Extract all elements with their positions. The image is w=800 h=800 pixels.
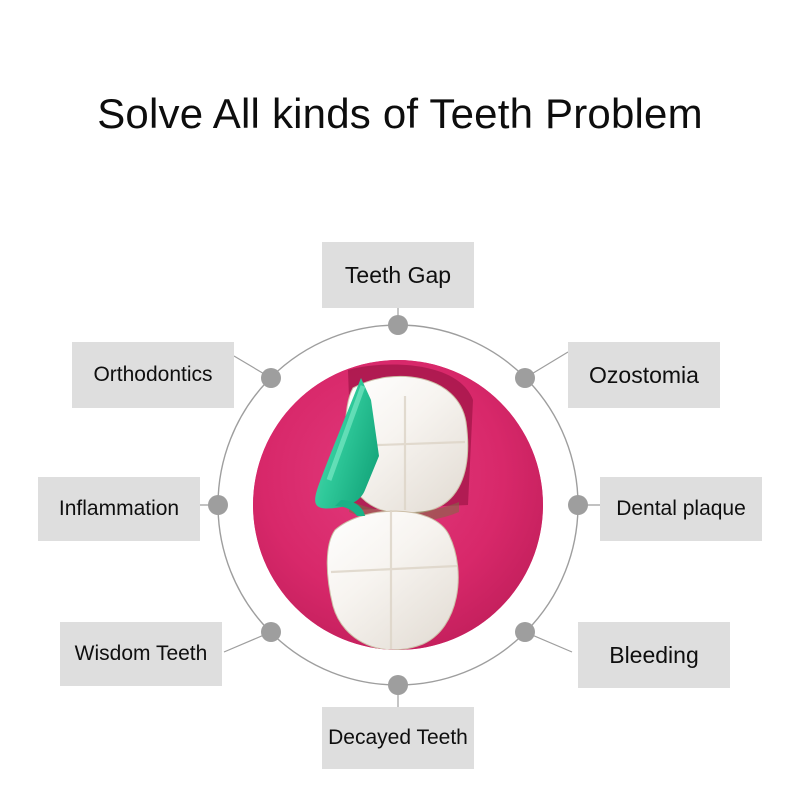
label-inflammation[interactable]: Inflammation [38, 477, 200, 541]
dot-inflammation[interactable] [208, 495, 228, 515]
dot-orthodontics[interactable] [261, 368, 281, 388]
dot-bleeding[interactable] [515, 622, 535, 642]
lower-molar [327, 511, 458, 650]
teeth-problem-diagram: Teeth Gap Ozostomia Dental plaque Bleedi… [0, 0, 800, 800]
label-wisdom-teeth[interactable]: Wisdom Teeth [60, 622, 222, 686]
label-bleeding[interactable]: Bleeding [578, 622, 730, 688]
label-decayed-teeth[interactable]: Decayed Teeth [322, 707, 474, 769]
teeth-illustration [253, 360, 543, 650]
label-ozostomia[interactable]: Ozostomia [568, 342, 720, 408]
label-teeth-gap[interactable]: Teeth Gap [322, 242, 474, 308]
dot-wisdom-teeth[interactable] [261, 622, 281, 642]
dot-dental-plaque[interactable] [568, 495, 588, 515]
center-teeth-photo [253, 360, 543, 650]
dot-ozostomia[interactable] [515, 368, 535, 388]
page-root: Solve All kinds of Teeth Problem [0, 0, 800, 800]
dot-teeth-gap[interactable] [388, 315, 408, 335]
label-dental-plaque[interactable]: Dental plaque [600, 477, 762, 541]
label-orthodontics[interactable]: Orthodontics [72, 342, 234, 408]
dot-decayed-teeth[interactable] [388, 675, 408, 695]
